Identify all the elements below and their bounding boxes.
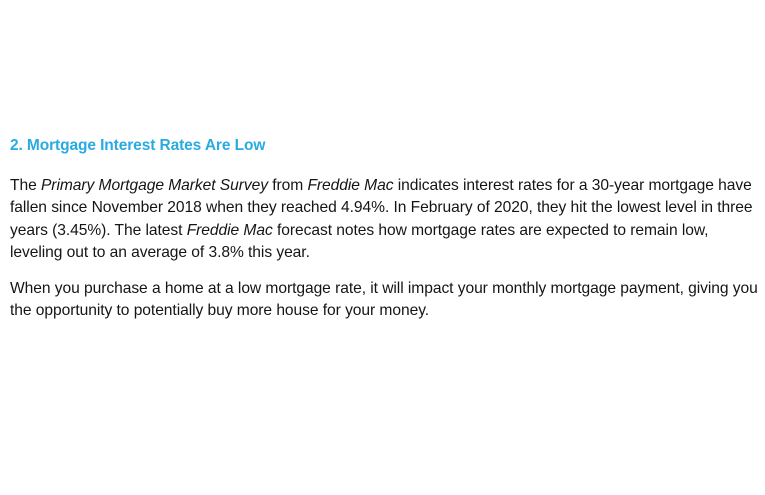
text-run: The <box>10 177 41 194</box>
body-paragraph-1: The Primary Mortgage Market Survey from … <box>10 175 760 264</box>
text-run: When you purchase a home at a low mortga… <box>10 280 758 319</box>
section-heading: 2. Mortgage Interest Rates Are Low <box>10 136 760 156</box>
freddie-mac-emphasis-first: Freddie Mac <box>307 177 393 194</box>
text-run: from <box>268 177 308 194</box>
body-paragraph-2: When you purchase a home at a low mortga… <box>10 278 760 323</box>
slide-canvas: 2. Mortgage Interest Rates Are Low The P… <box>0 0 765 495</box>
content-block: 2. Mortgage Interest Rates Are Low The P… <box>10 136 760 323</box>
freddie-mac-emphasis-second: Freddie Mac <box>187 222 273 239</box>
survey-title-emphasis: Primary Mortgage Market Survey <box>41 177 268 194</box>
